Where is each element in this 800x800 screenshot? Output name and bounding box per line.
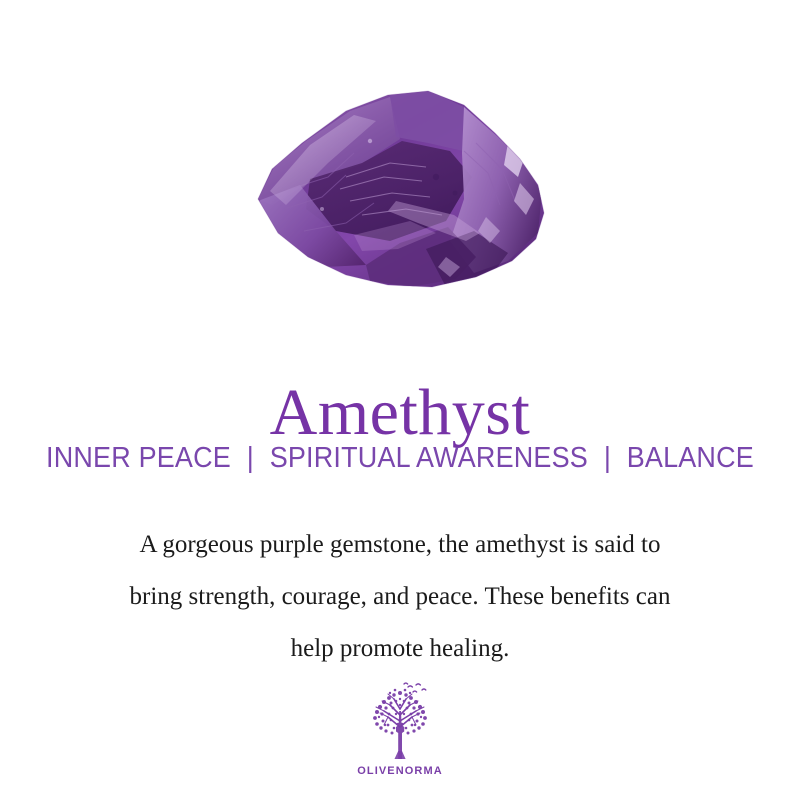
amethyst-crystal-illustration xyxy=(250,81,550,296)
brand-logo: OLIVENORMA xyxy=(0,681,800,777)
keyword-spiritual-awareness: SPIRITUAL AWARENESS xyxy=(270,442,588,474)
amethyst-product-card: Amethyst INNER PEACE | SPIRITUAL AWARENE… xyxy=(0,0,800,800)
product-description: A gorgeous purple gemstone, the amethyst… xyxy=(60,519,740,675)
keyword-list: INNER PEACE | SPIRITUAL AWARENESS | BALA… xyxy=(28,440,772,476)
olive-tree-icon xyxy=(358,681,442,763)
brand-wordmark: OLIVENORMA xyxy=(357,765,443,777)
amethyst-stone-image xyxy=(0,78,800,298)
stone-facets xyxy=(258,91,542,287)
keyword-balance: BALANCE xyxy=(627,442,754,474)
keyword-inner-peace: INNER PEACE xyxy=(46,442,231,474)
description-line: A gorgeous purple gemstone, the amethyst… xyxy=(60,519,740,571)
keyword-separator: | xyxy=(238,440,262,476)
description-line: bring strength, courage, and peace. Thes… xyxy=(60,571,740,623)
description-line: help promote healing. xyxy=(60,623,740,675)
birds-icon xyxy=(404,683,426,692)
keyword-separator: | xyxy=(595,440,619,476)
